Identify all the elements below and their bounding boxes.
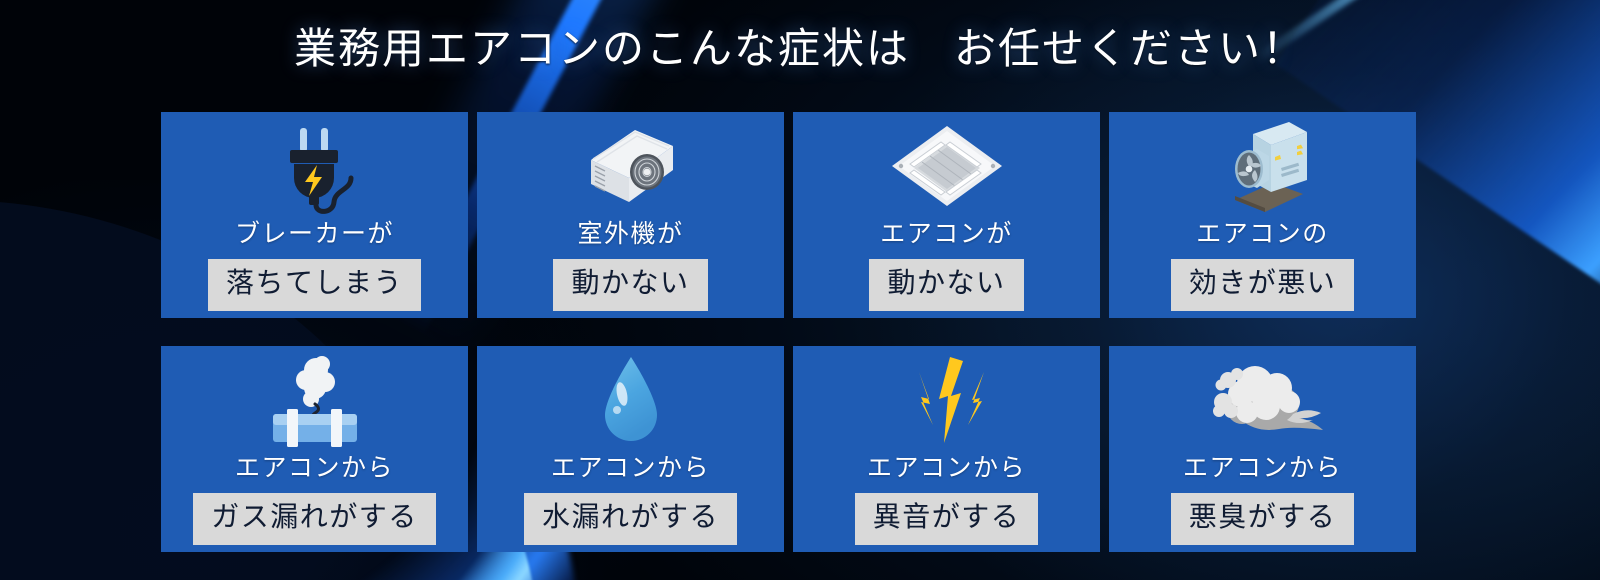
- smoke-odor-cloud-icon: [1109, 350, 1416, 454]
- symptom-card-indoor-unit[interactable]: エアコンが 動かない: [793, 112, 1100, 318]
- symptom-card-outdoor-unit[interactable]: 室外機が 動かない: [477, 112, 784, 318]
- industrial-blower-unit-icon: [1109, 116, 1416, 220]
- card-badge: ガス漏れがする: [193, 493, 436, 545]
- card-badge: 落ちてしまう: [208, 259, 421, 311]
- card-badge: 水漏れがする: [524, 493, 737, 545]
- card-title: ブレーカーが: [235, 222, 394, 247]
- power-plug-unplugged-icon: [161, 116, 468, 220]
- outdoor-ac-condenser-unit-icon: [477, 116, 784, 220]
- symptom-card-breaker[interactable]: ブレーカーが 落ちてしまう: [161, 112, 468, 318]
- card-badge: 異音がする: [855, 493, 1039, 545]
- symptom-card-water-leak[interactable]: エアコンから 水漏れがする: [477, 346, 784, 552]
- water-droplet-icon: [477, 350, 784, 454]
- card-badge: 動かない: [869, 259, 1023, 311]
- card-title: エアコンが: [880, 222, 1013, 247]
- leaking-pipe-gas-icon: [161, 350, 468, 454]
- card-badge: 悪臭がする: [1171, 493, 1355, 545]
- card-title: エアコンから: [235, 456, 394, 481]
- symptom-card-bad-odor[interactable]: エアコンから 悪臭がする: [1109, 346, 1416, 552]
- card-badge: 効きが悪い: [1171, 259, 1355, 311]
- card-title: エアコンの: [1196, 222, 1329, 247]
- card-title: エアコンから: [867, 456, 1026, 481]
- promo-banner: 業務用エアコンのこんな症状は お任せください！ ブレーカーが 落: [0, 0, 1600, 580]
- symptom-card-grid: ブレーカーが 落ちてしまう: [161, 112, 1409, 552]
- ceiling-cassette-ac-icon: [793, 116, 1100, 220]
- card-title: 室外機が: [577, 222, 683, 247]
- symptom-card-gas-leak[interactable]: エアコンから ガス漏れがする: [161, 346, 468, 552]
- lightning-bolts-noise-icon: [793, 350, 1100, 454]
- card-title: エアコンから: [551, 456, 710, 481]
- symptom-card-abnormal-noise[interactable]: エアコンから 異音がする: [793, 346, 1100, 552]
- symptom-card-poor-cooling[interactable]: エアコンの 効きが悪い: [1109, 112, 1416, 318]
- page-title: 業務用エアコンのこんな症状は お任せください！: [0, 24, 1600, 77]
- card-badge: 動かない: [553, 259, 707, 311]
- card-title: エアコンから: [1183, 456, 1342, 481]
